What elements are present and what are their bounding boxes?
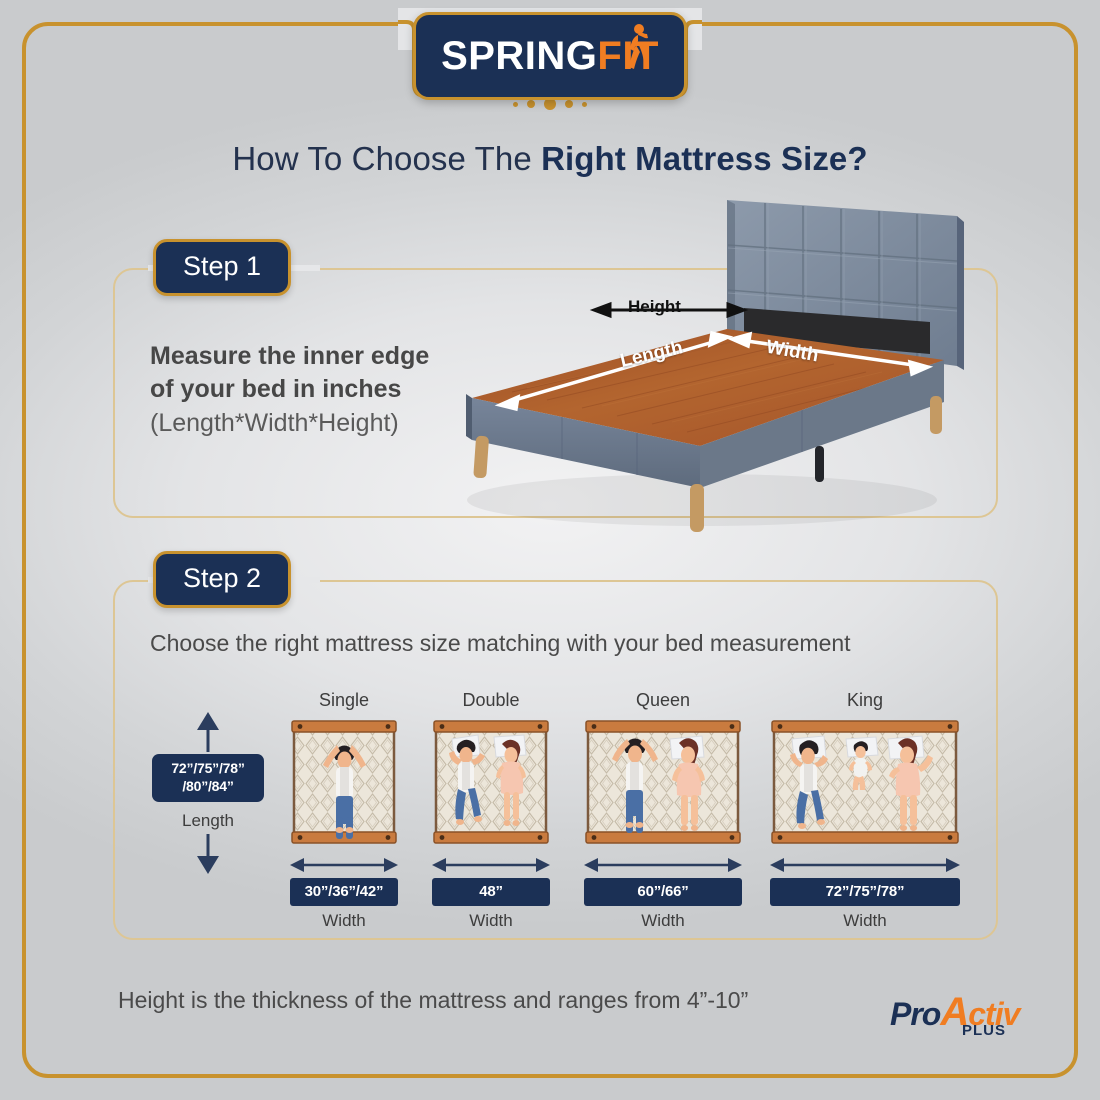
page-title: How To Choose The Right Mattress Size? [0, 140, 1100, 178]
mattress-title-double: Double [432, 690, 550, 711]
width-value-queen: 60”/66” [584, 878, 742, 906]
footer-note: Height is the thickness of the mattress … [118, 987, 748, 1014]
width-caption-queen: Width [584, 911, 742, 931]
step1-line-3: (Length*Width*Height) [150, 407, 480, 440]
dot-small-left [513, 102, 518, 107]
logo-letter-f: F [597, 34, 622, 78]
width-caption-double: Width [432, 911, 550, 931]
width-caption-king: Width [770, 911, 960, 931]
mattress-illustration-single [290, 717, 398, 847]
bed-label-height: Height [628, 297, 681, 317]
width-arrow-double-icon [432, 857, 550, 873]
length-value-box: 72”/75”/78” /80”/84” [152, 754, 264, 802]
width-arrow-queen-icon [584, 857, 742, 873]
width-value-single: 30”/36”/42” [290, 878, 398, 906]
width-value-king: 72”/75”/78” [770, 878, 960, 906]
width-caption-single: Width [290, 911, 398, 931]
mattress-title-single: Single [290, 690, 398, 711]
width-arrow-king-icon [770, 857, 960, 873]
mattress-column-queen: Queen [584, 690, 742, 931]
mattress-column-king: King [770, 690, 960, 931]
step2-description: Choose the right mattress size matching … [150, 628, 880, 659]
bed-illustration [452, 188, 982, 538]
springfit-logo-plate: SPRINGFIT [413, 12, 687, 100]
logo-fit-group: FIT [597, 36, 659, 76]
mattress-title-queen: Queen [584, 690, 742, 711]
proactiv-pro-text: Pro [890, 996, 940, 1032]
title-regular: How To Choose The [232, 140, 541, 177]
length-arrow-down-icon [196, 834, 220, 879]
title-bold: Right Mattress Size? [541, 140, 868, 177]
step2-badge: Step 2 [153, 551, 291, 608]
springfit-logo-text: SPRINGFIT [441, 36, 659, 76]
step1-badge: Step 1 [153, 239, 291, 296]
mattress-illustration-queen [584, 717, 742, 847]
infographic-page: SPRINGFIT How To Choose The Right Mattre… [0, 0, 1100, 1100]
proactiv-logo-text: ProActiv [890, 992, 1030, 1032]
mattress-size-row: Single [280, 690, 960, 940]
step1-line-1: Measure the inner edge [150, 340, 480, 373]
mattress-column-single: Single [290, 690, 398, 931]
mattress-column-double: Double [432, 690, 550, 931]
width-arrow-single-icon [290, 857, 398, 873]
dot-medium-left [527, 100, 535, 108]
proactiv-plus-text: PLUS [962, 1022, 1006, 1039]
proactiv-plus-logo: ProActiv PLUS [890, 992, 1030, 1050]
length-value-line2: /80”/84” [154, 778, 262, 796]
length-gauge: 72”/75”/78” /80”/84” Length [152, 712, 264, 872]
length-caption: Length [152, 811, 264, 831]
width-value-double: 48” [432, 878, 550, 906]
running-figure-icon [624, 23, 650, 71]
mattress-illustration-king [770, 717, 960, 847]
dot-medium-right [565, 100, 573, 108]
logo-spring-text: SPRING [441, 36, 597, 76]
length-value-line1: 72”/75”/78” [154, 760, 262, 778]
step1-line-2: of your bed in inches [150, 373, 480, 406]
mattress-title-king: King [770, 690, 960, 711]
mattress-illustration-double [432, 717, 550, 847]
dot-small-right [582, 102, 587, 107]
length-arrow-up-icon [196, 712, 220, 757]
step1-description: Measure the inner edge of your bed in in… [150, 340, 480, 440]
